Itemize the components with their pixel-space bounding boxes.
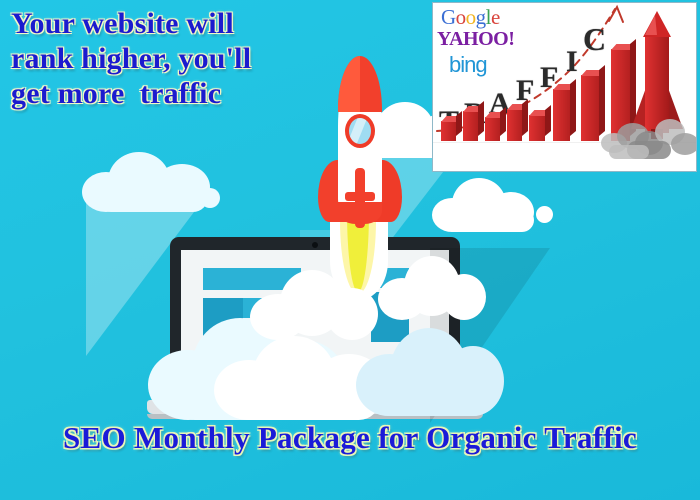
traffic-letter: C [583,23,606,55]
rocket-center-crossbar [345,192,375,201]
rocket-window [345,114,375,148]
inset-rocket-nose-highlight [645,15,657,35]
headline: Your website will rank higher, you'll ge… [11,6,431,111]
google-logo-letter: G [441,5,456,29]
google-logo: Google [441,5,500,30]
traffic-letter: I [566,47,578,77]
google-logo-letter: o [456,5,466,29]
headline-line-3: get more traffic [11,76,431,111]
traffic-inset-image: Google YAHOO! bing T R A F F I C [432,2,697,172]
google-logo-letter: o [466,5,476,29]
chart-bar [485,117,500,141]
google-logo-letter: g [476,5,486,29]
chart-bar [553,89,570,141]
seo-banner: Your website will rank higher, you'll ge… [0,0,700,500]
chart-bar [507,109,522,141]
chart-bar [581,75,599,141]
screen-content-bar [371,292,409,342]
chart-bar [463,111,478,141]
yahoo-logo: YAHOO! [437,28,514,51]
screen-content-bar [203,268,301,290]
google-logo-letter: e [491,5,500,29]
bottom-title: SEO Monthly Package for Organic Traffic [0,420,700,456]
laptop-long-shadow [430,248,550,423]
inset-rocket-smoke [601,115,697,161]
headline-line-2: rank higher, you'll [11,41,431,76]
screen-content-bar [203,298,243,346]
chart-bar [529,115,545,141]
headline-line-1: Your website will [11,6,431,41]
bing-logo: bing [449,52,487,78]
chart-bar [441,121,456,141]
